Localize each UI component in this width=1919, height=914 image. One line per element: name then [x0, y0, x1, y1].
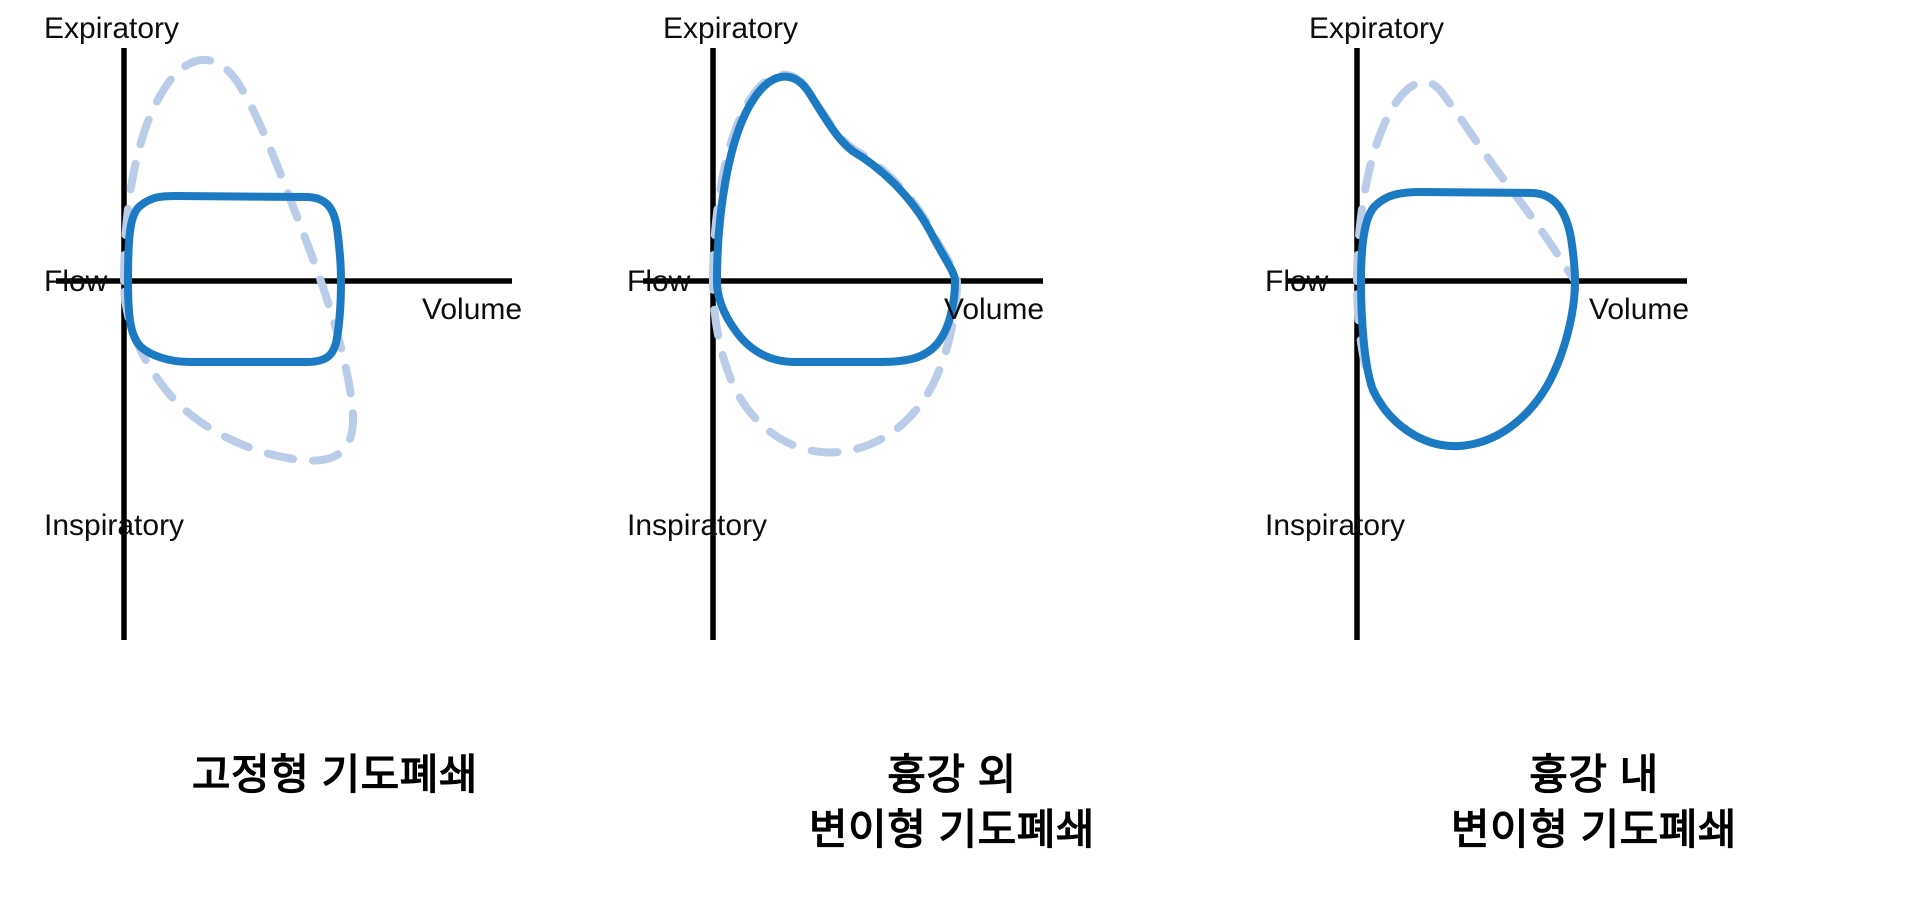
label-volume: Volume [422, 293, 522, 326]
label-flow: Flow [627, 265, 690, 298]
panel-caption: 고정형 기도폐쇄 [0, 747, 640, 802]
plot-variable-intrathoracic [1265, 0, 1905, 700]
label-inspiratory: Inspiratory [1265, 509, 1405, 542]
label-volume: Volume [944, 293, 1044, 326]
plot-fixed-obstruction [0, 0, 640, 700]
label-expiratory: Expiratory [1309, 12, 1444, 45]
panel-variable-extrathoracic: Expiratory Flow Volume Inspiratory 흉강 외 … [627, 0, 1267, 914]
label-flow: Flow [1265, 265, 1328, 298]
label-volume: Volume [1589, 293, 1689, 326]
flow-volume-loop-figure: Expiratory Flow Volume Inspiratory 고정형 기… [0, 0, 1919, 914]
label-inspiratory: Inspiratory [44, 509, 184, 542]
label-flow: Flow [44, 265, 107, 298]
label-expiratory: Expiratory [44, 12, 179, 45]
label-inspiratory: Inspiratory [627, 509, 767, 542]
plot-variable-extrathoracic [627, 0, 1267, 700]
panel-fixed-obstruction: Expiratory Flow Volume Inspiratory 고정형 기… [0, 0, 640, 914]
panel-caption: 흉강 외 변이형 기도폐쇄 [627, 747, 1267, 858]
panel-caption: 흉강 내 변이형 기도폐쇄 [1265, 747, 1905, 858]
normal-reference-loop [124, 60, 353, 461]
label-expiratory: Expiratory [663, 12, 798, 45]
panel-variable-intrathoracic: Expiratory Flow Volume Inspiratory 흉강 내 … [1265, 0, 1905, 914]
patient-loop-extrathoracic [717, 77, 955, 362]
